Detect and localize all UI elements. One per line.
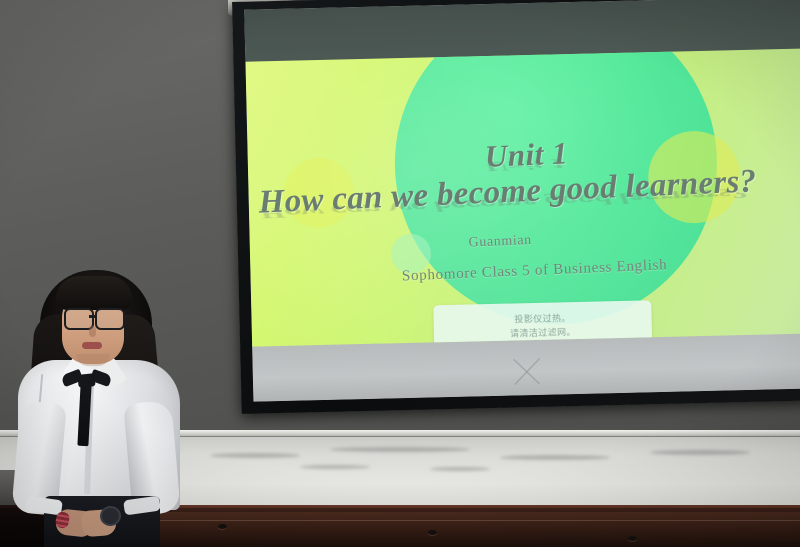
presenter-mouth xyxy=(82,342,102,349)
slide-title-line-1: Unit 1 xyxy=(484,135,569,175)
slide-class-line: Sophomore Class 5 of Business English xyxy=(402,257,668,285)
projector-warning-line-1: 投影仪过热。 xyxy=(514,311,571,325)
presenter-eyeglass-lens-right xyxy=(95,308,125,330)
projector-warning-line-2: 请清洁过滤网。 xyxy=(510,325,576,340)
presenter xyxy=(0,262,210,547)
presenter-hair-fringe xyxy=(56,276,132,310)
presenter-nose xyxy=(89,326,96,337)
screen-surface: Unit 1 How can we become good learners? … xyxy=(244,0,800,402)
slide-text-group: Unit 1 How can we become good learners? … xyxy=(245,49,800,347)
projection-screen: Unit 1 How can we become good learners? … xyxy=(232,0,800,420)
classroom-desk xyxy=(160,512,800,547)
classroom-presentation-photo: Unit 1 How can we become good learners? … xyxy=(0,0,800,547)
presenter-ribbon-knot xyxy=(77,373,95,388)
presenter-eyeglass-bridge xyxy=(89,315,96,318)
presentation-slide: Unit 1 How can we become good learners? … xyxy=(245,49,800,347)
slide-presenter-name: Guanmian xyxy=(468,233,532,252)
